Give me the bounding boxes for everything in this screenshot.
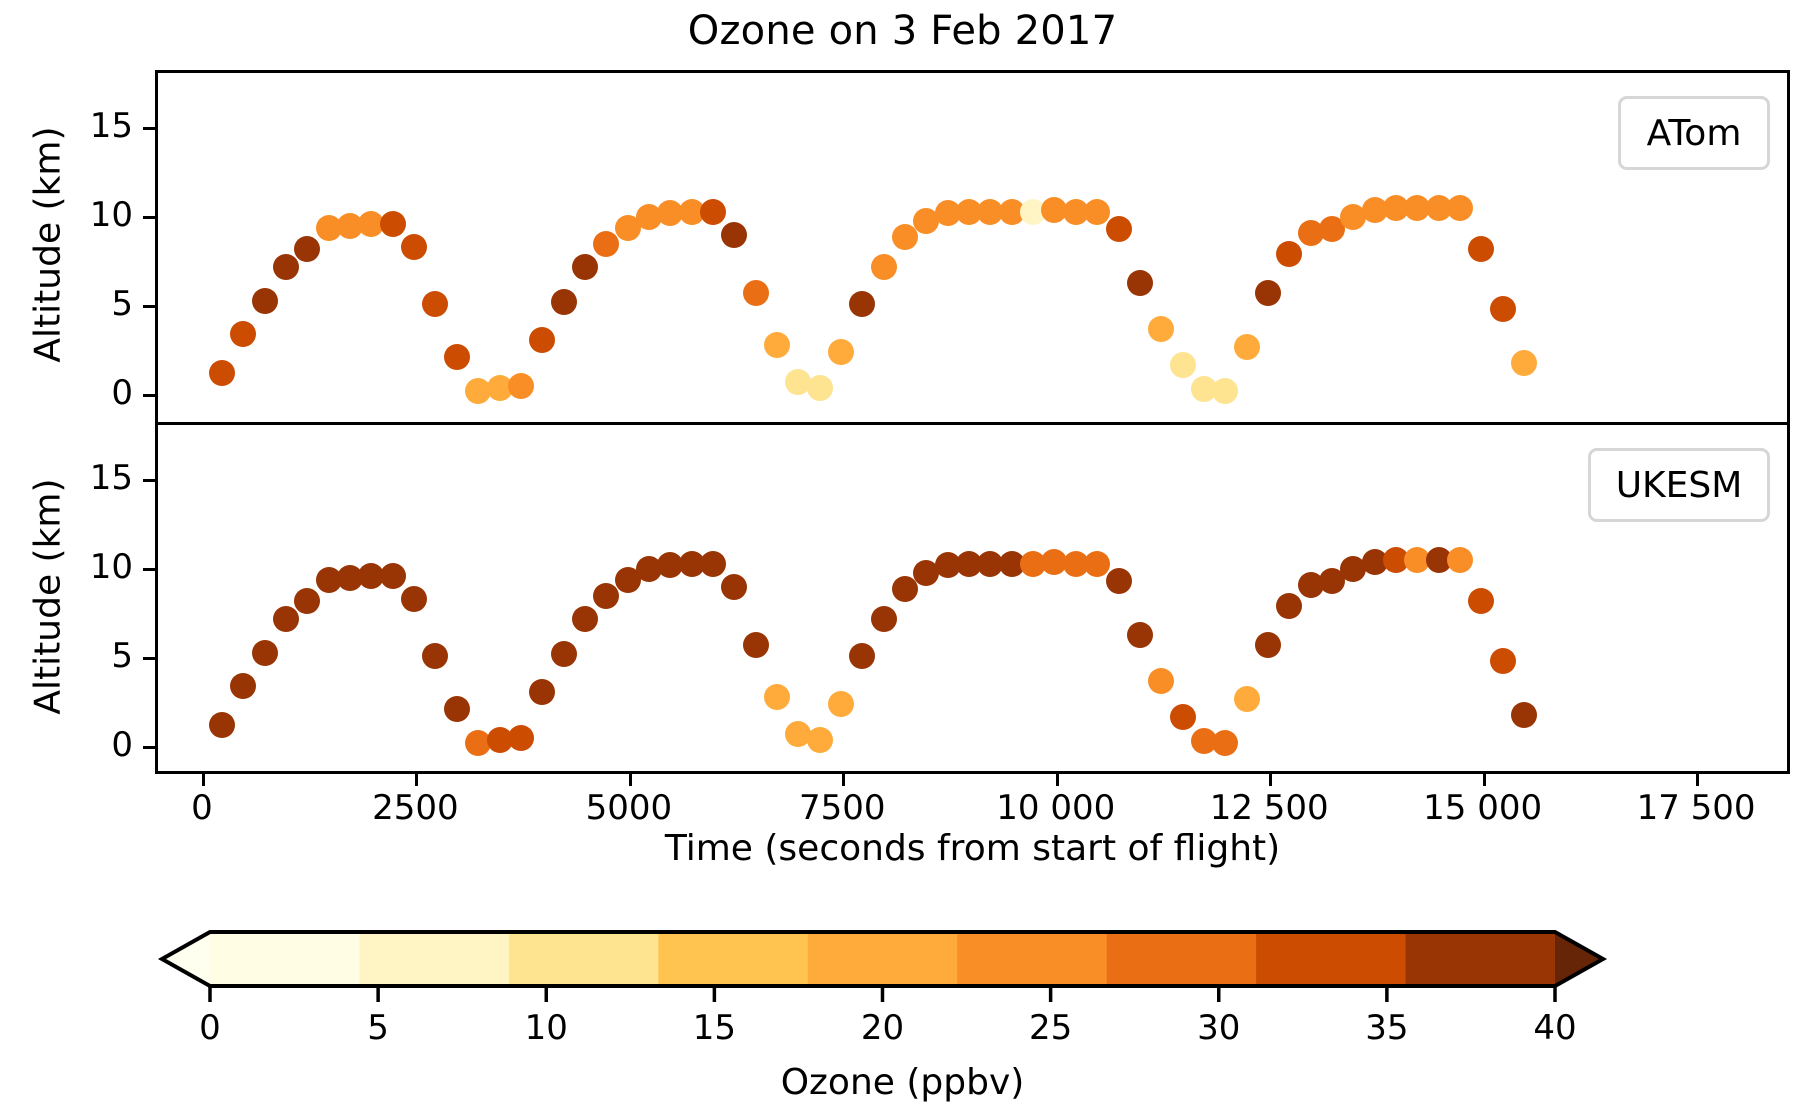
- data-point: [871, 606, 897, 632]
- data-point: [529, 327, 555, 353]
- data-point: [700, 551, 726, 577]
- data-point: [1148, 668, 1174, 694]
- y-axis-tick: [143, 394, 155, 397]
- x-axis-tick: [202, 774, 205, 786]
- colorbar-bin: [210, 932, 360, 986]
- x-axis-tick: [842, 774, 845, 786]
- data-point: [1170, 704, 1196, 730]
- data-point: [422, 291, 448, 317]
- y-axis-tick: [143, 305, 155, 308]
- data-point: [1276, 593, 1302, 619]
- colorbar-tick-label: 0: [199, 1010, 221, 1046]
- data-point: [1148, 316, 1174, 342]
- data-point: [1170, 352, 1196, 378]
- x-axis-tick: [1269, 774, 1272, 786]
- data-point: [380, 563, 406, 589]
- y-axis-tick: [143, 568, 155, 571]
- colorbar-tick-label: 35: [1365, 1010, 1408, 1046]
- colorbar-bin: [509, 932, 659, 986]
- colorbar-tick-label: 15: [693, 1010, 736, 1046]
- legend-atom-label: ATom: [1647, 113, 1742, 154]
- colorbar-extend-low: [162, 932, 210, 986]
- data-point: [1511, 350, 1537, 376]
- x-axis-tick: [629, 774, 632, 786]
- x-axis-tick-label: 17 500: [1637, 790, 1756, 826]
- data-point: [209, 360, 235, 386]
- data-point: [529, 679, 555, 705]
- data-point: [1490, 648, 1516, 674]
- data-point: [273, 606, 299, 632]
- colorbar: 0510152025303540 Ozone (ppbv): [0, 918, 1805, 1118]
- legend-ukesm: UKESM: [1588, 448, 1770, 522]
- data-point: [380, 211, 406, 237]
- data-point: [401, 586, 427, 612]
- x-axis-tick-label: 10 000: [996, 790, 1115, 826]
- y-axis-tick: [143, 127, 155, 130]
- data-point: [508, 725, 534, 751]
- data-point: [871, 254, 897, 280]
- colorbar-bin: [1107, 932, 1257, 986]
- data-point: [700, 199, 726, 225]
- data-point: [828, 691, 854, 717]
- y-axis-tick: [143, 479, 155, 482]
- data-point: [807, 375, 833, 401]
- colorbar-tick-label: 5: [367, 1010, 389, 1046]
- data-point: [1127, 622, 1153, 648]
- data-point: [828, 339, 854, 365]
- data-point: [1447, 195, 1473, 221]
- colorbar-bin: [1256, 932, 1406, 986]
- data-point: [444, 344, 470, 370]
- panel-ukesm-plot-area: [158, 425, 1787, 771]
- data-point: [209, 712, 235, 738]
- colorbar-bin: [957, 932, 1107, 986]
- y-axis-tick: [143, 657, 155, 660]
- data-point: [1106, 568, 1132, 594]
- data-point: [1255, 280, 1281, 306]
- data-point: [508, 373, 534, 399]
- data-point: [551, 641, 577, 667]
- data-point: [1106, 216, 1132, 242]
- panel-ukesm-axes: [155, 422, 1790, 774]
- x-axis-tick: [1483, 774, 1486, 786]
- panel-atom-plot-area: [158, 73, 1787, 422]
- colorbar-bin: [658, 932, 808, 986]
- data-point: [230, 321, 256, 347]
- data-point: [551, 289, 577, 315]
- data-point: [721, 574, 747, 600]
- x-axis-tick-label: 7500: [799, 790, 886, 826]
- data-point: [230, 673, 256, 699]
- data-point: [1084, 199, 1110, 225]
- panel-atom-axes: [155, 70, 1790, 422]
- x-axis-tick: [415, 774, 418, 786]
- x-axis-tick-label: 2500: [372, 790, 459, 826]
- data-point: [401, 234, 427, 260]
- x-axis-tick-label: 15 000: [1423, 790, 1542, 826]
- data-point: [593, 583, 619, 609]
- x-axis-tick: [1056, 774, 1059, 786]
- data-point: [1234, 686, 1260, 712]
- data-point: [1084, 551, 1110, 577]
- colorbar-tick-label: 20: [861, 1010, 904, 1046]
- colorbar-bin: [359, 932, 509, 986]
- x-axis-tick-label: 12 500: [1210, 790, 1329, 826]
- y-axis-tick: [143, 746, 155, 749]
- data-point: [1468, 588, 1494, 614]
- data-point: [849, 291, 875, 317]
- colorbar-bin: [1406, 932, 1556, 986]
- data-point: [422, 643, 448, 669]
- data-point: [721, 222, 747, 248]
- data-point: [807, 727, 833, 753]
- colorbar-tick-label: 40: [1533, 1010, 1576, 1046]
- x-axis-label: Time (seconds from start of flight): [155, 828, 1790, 869]
- x-axis-tick-label: 0: [191, 790, 213, 826]
- colorbar-tick-label: 25: [1029, 1010, 1072, 1046]
- data-point: [572, 254, 598, 280]
- data-point: [252, 640, 278, 666]
- data-point: [444, 696, 470, 722]
- figure-canvas: Ozone on 3 Feb 2017 051015 Altitude (km)…: [0, 0, 1805, 1117]
- data-point: [572, 606, 598, 632]
- y-axis-tick: [143, 216, 155, 219]
- data-point: [849, 643, 875, 669]
- data-point: [1468, 236, 1494, 262]
- data-point: [252, 288, 278, 314]
- data-point: [1490, 296, 1516, 322]
- y-axis-label-atom: Altitude (km): [28, 69, 69, 421]
- data-point: [294, 236, 320, 262]
- colorbar-tick-label: 30: [1197, 1010, 1240, 1046]
- data-point: [1447, 547, 1473, 573]
- legend-ukesm-label: UKESM: [1616, 465, 1743, 506]
- data-point: [593, 231, 619, 257]
- data-point: [1255, 632, 1281, 658]
- data-point: [743, 632, 769, 658]
- colorbar-extend-high: [1555, 932, 1603, 986]
- data-point: [294, 588, 320, 614]
- colorbar-label: Ozone (ppbv): [0, 1062, 1805, 1103]
- data-point: [764, 332, 790, 358]
- x-axis-tick-label: 5000: [586, 790, 673, 826]
- colorbar-tick-label: 10: [525, 1010, 568, 1046]
- data-point: [1212, 730, 1238, 756]
- data-point: [1276, 241, 1302, 267]
- chart-title: Ozone on 3 Feb 2017: [0, 8, 1805, 54]
- y-axis-label-ukesm: Altitude (km): [28, 421, 69, 773]
- colorbar-bin: [808, 932, 958, 986]
- data-point: [1234, 334, 1260, 360]
- data-point: [1511, 702, 1537, 728]
- legend-atom: ATom: [1618, 96, 1770, 170]
- data-point: [1127, 270, 1153, 296]
- x-axis-tick: [1696, 774, 1699, 786]
- data-point: [743, 280, 769, 306]
- data-point: [1212, 378, 1238, 404]
- data-point: [764, 684, 790, 710]
- data-point: [273, 254, 299, 280]
